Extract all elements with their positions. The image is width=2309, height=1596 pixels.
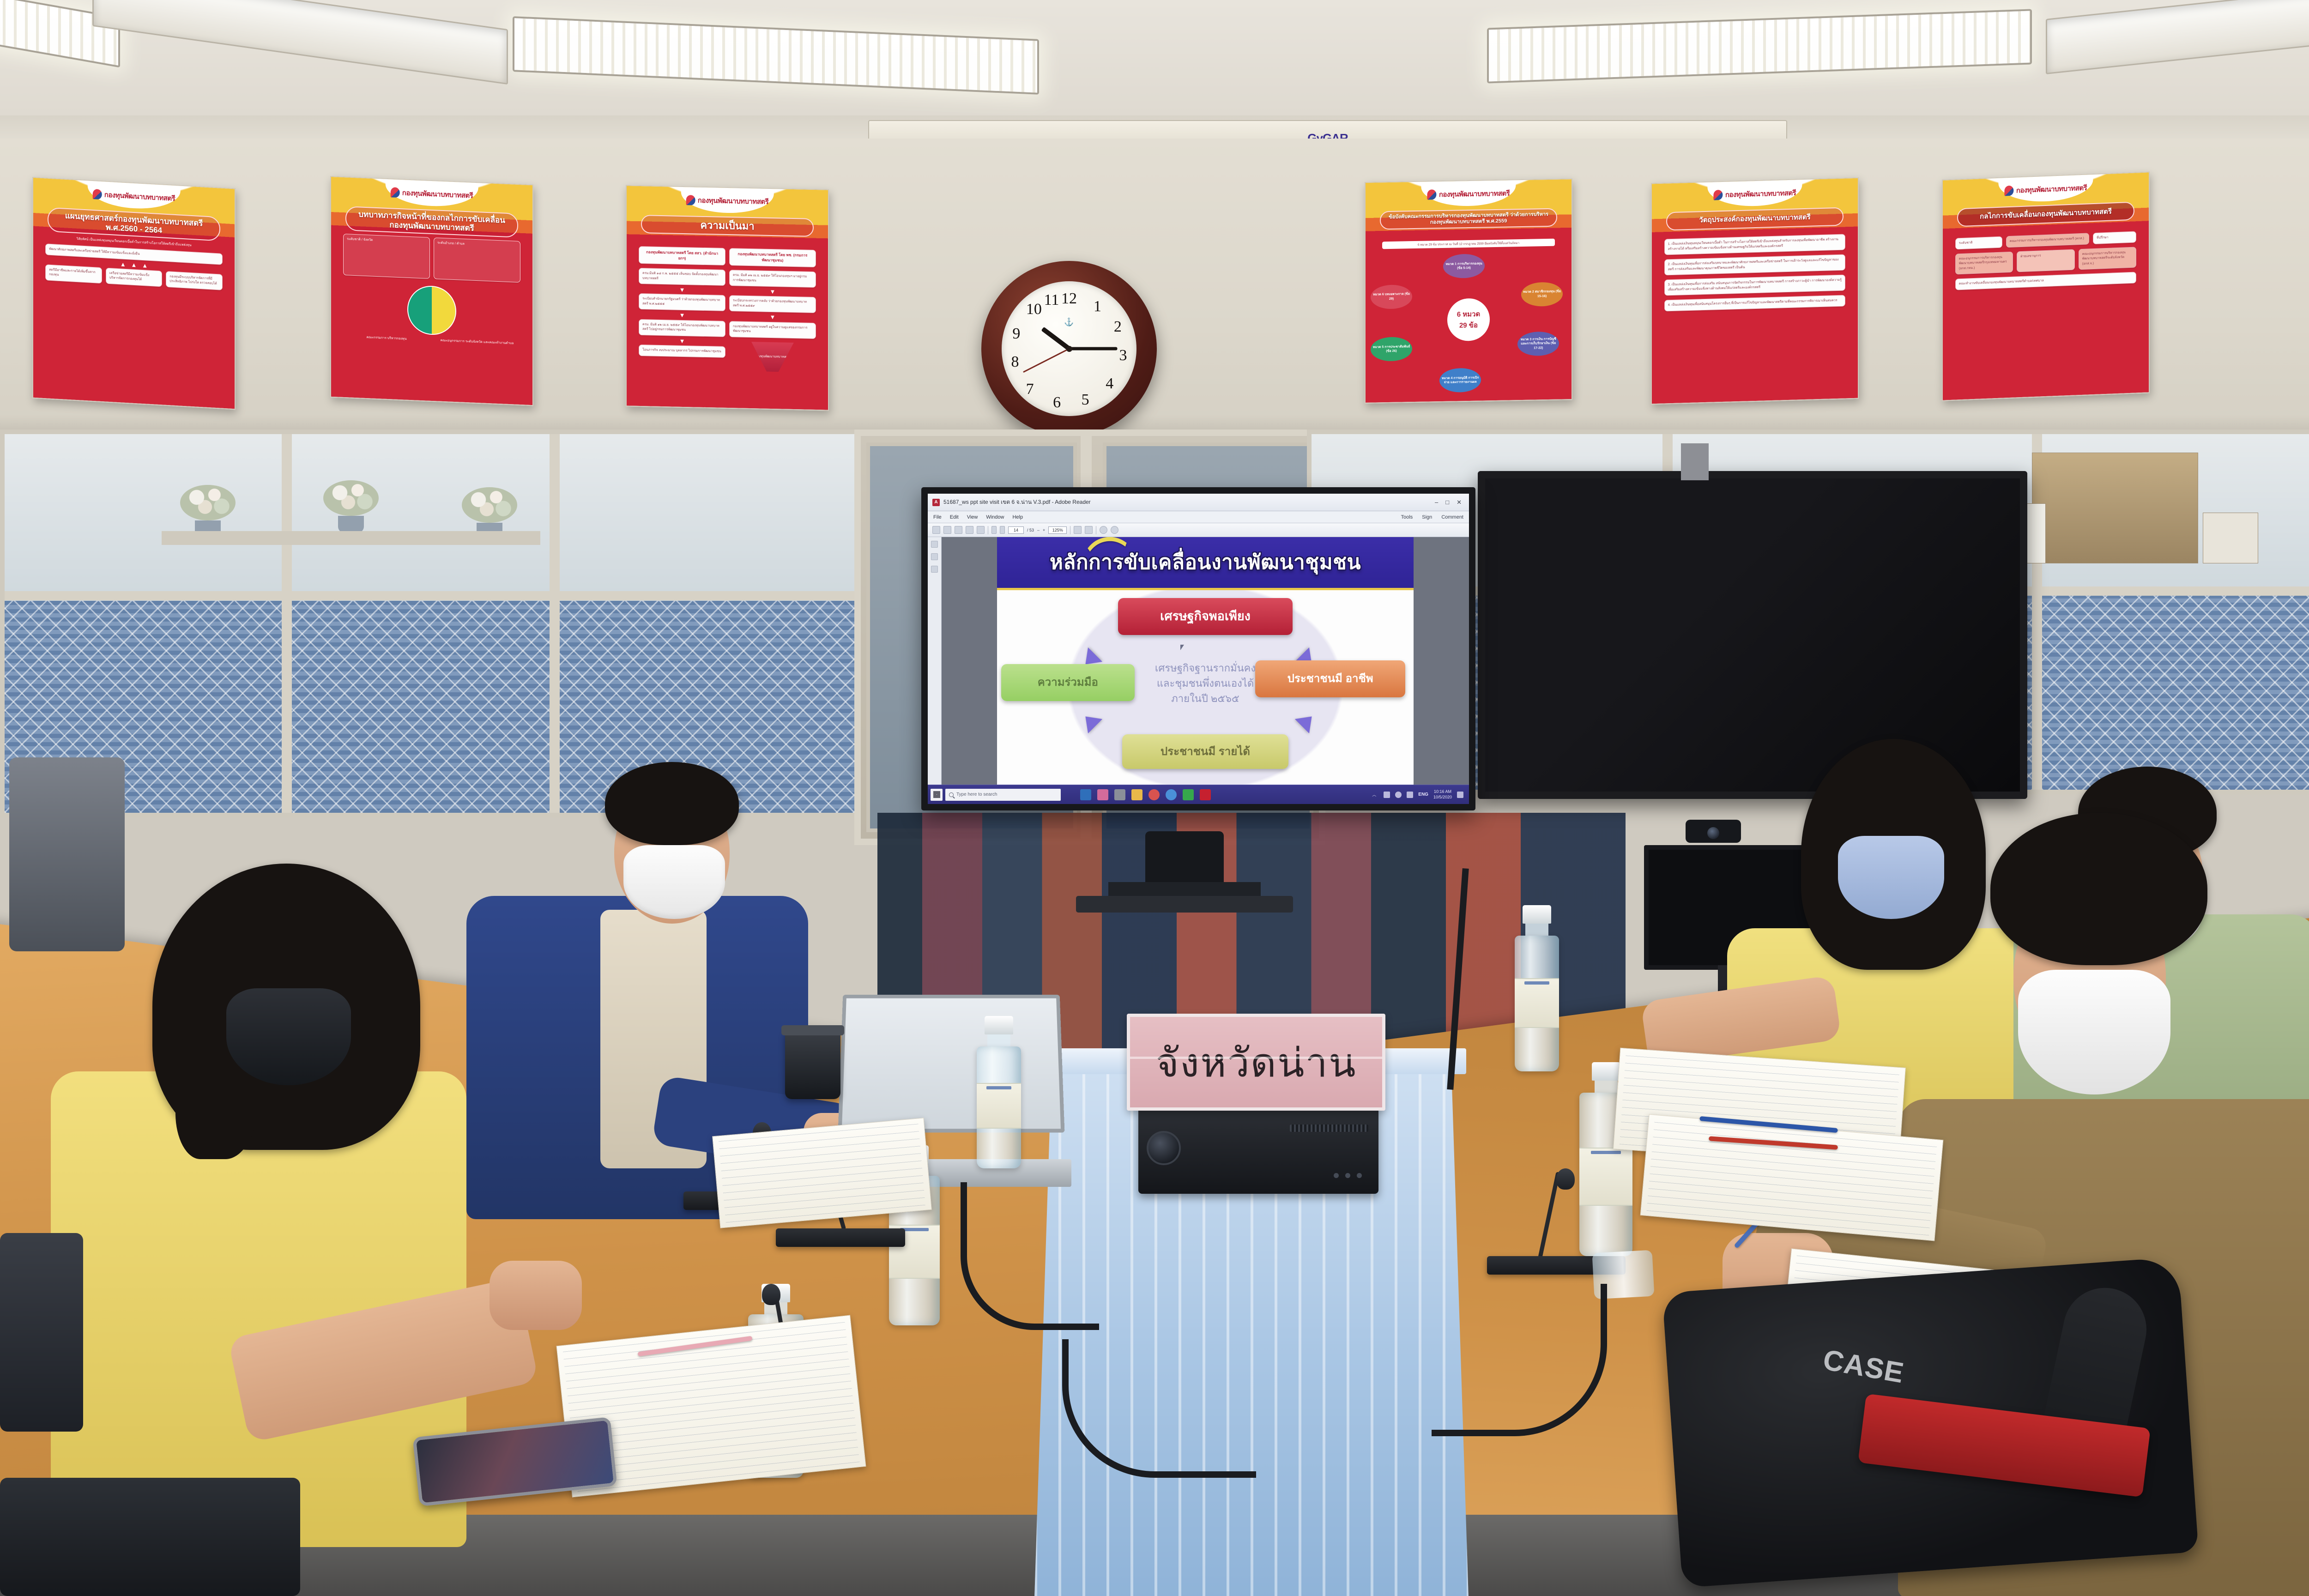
poster-box: ครม. มีมติ ๑๒ เม.ย. ๒๕๕๙ ให้โอนกองทุนพัฒ… [639, 319, 725, 337]
pdf-toolbar: 14 / 53 – + 125% [928, 523, 1469, 537]
office-chair [0, 1478, 300, 1596]
category-node: หมวด 3 การเงิน การบัญชี และการเก็บรักษาเ… [1517, 332, 1559, 357]
show-hidden-icons-button[interactable]: ︿ [1372, 792, 1378, 798]
mechanism-node: คณะอนุกรรมการบริหารกองทุนพัฒนาบทบาทสตรีร… [2079, 247, 2137, 270]
search-icon [949, 792, 954, 797]
windows-taskbar: Type here to search ︿ E [928, 785, 1469, 804]
arrow-down-icon: ▼ [639, 338, 725, 345]
clock-numeral: 2 [1114, 318, 1122, 336]
poster-logo-label: กองทุนพัฒนาบทบาทสตรี [1439, 187, 1510, 200]
poster-logo-label: กองทุนพัฒนาบทบาทสตรี [402, 187, 473, 201]
storage-box [2203, 513, 2258, 563]
page-thumbnails-icon[interactable] [931, 541, 938, 548]
menu-edit[interactable]: Edit [950, 514, 959, 520]
fund-logo-icon [686, 195, 695, 205]
page-total-label: / 53 [1027, 528, 1034, 532]
projector-lens-icon [1147, 1131, 1181, 1165]
center-line-2: และชุมชนพึ่งตนเองได้ [1130, 676, 1281, 691]
category-node: หมวด 2 สมาชิกกองทุน (ข้อ 15-16) [1521, 282, 1563, 307]
flower-vase [180, 485, 236, 536]
poster-pie-chart [407, 285, 456, 336]
storage-box [2032, 453, 2198, 563]
volume-icon[interactable] [1407, 792, 1413, 798]
arrow-down-icon: ▼ [639, 287, 725, 293]
category-node: หมวด 4 การอนุมัติ การเบิกจ่าย และการรายง… [1439, 368, 1481, 393]
clock-time: 10:16 AM [1433, 789, 1452, 794]
clock-numeral: 7 [1026, 381, 1034, 398]
menu-comment[interactable]: Comment [1441, 514, 1463, 520]
category-node: หมวด 1 การบริหารกองทุน (ข้อ 5-14) [1443, 254, 1485, 279]
center-line-1: เศรษฐกิจฐานรากมั่นคง [1130, 660, 1281, 676]
pdf-page[interactable]: ⌒ หลักการขับเคลื่อนงานพัฒนาชุมชน เศรษฐกิ… [997, 537, 1414, 785]
poster-box: กองทุนพัฒนาบทบาทสตรี อยู่ในความดูแลของกร… [729, 321, 816, 339]
clock-numeral: 4 [1106, 375, 1113, 393]
table-projector [1138, 1106, 1378, 1194]
fund-logo-icon [1427, 189, 1437, 199]
fund-logo-icon [93, 189, 102, 199]
pie-slice-label: คณะอนุกรรมการ ระดับจังหวัด และคณะทำงานตำ… [434, 338, 520, 346]
onedrive-icon[interactable] [1395, 792, 1402, 798]
flower-vase [462, 487, 517, 538]
poster-column-head: กองทุนพัฒนาบทบาทสตรี โดย พช. (กรมการพัฒน… [729, 248, 816, 267]
cable [961, 1182, 1099, 1330]
clock-numeral: 3 [1119, 347, 1127, 364]
close-button[interactable]: ✕ [1457, 499, 1462, 506]
slide-title-band: ⌒ หลักการขับเคลื่อนงานพัฒนาชุมชน [997, 537, 1414, 590]
paper-document [712, 1118, 932, 1228]
bookmarks-icon[interactable] [931, 553, 938, 560]
menu-view[interactable]: View [967, 514, 978, 520]
tumbler-cup [785, 1030, 840, 1099]
wall-clock: ⚓ 12 1 2 3 4 5 6 7 8 9 10 11 [981, 261, 1157, 436]
clock-date: 10/5/2020 [1433, 795, 1452, 800]
clock-numeral: 6 [1053, 394, 1061, 411]
poster-box: ระเบียบสำนักนายกรัฐมนตรี ว่าด้วยกองทุนพั… [639, 293, 725, 311]
language-indicator[interactable]: ENG [1418, 792, 1428, 797]
water-bottle [1515, 905, 1559, 1071]
menu-file[interactable]: File [933, 514, 942, 520]
poster-box: โอนภารกิจ งบประมาณ บุคลากร ไปกรมการพัฒนา… [639, 345, 725, 357]
poster-box: ระเบียบกระทรวงการคลัง ว่าด้วยกองทุนพัฒนา… [729, 295, 816, 313]
poster-logo-label: กองทุนพัฒนาบทบาทสตรี [1725, 187, 1796, 200]
clock-second-hand [1023, 348, 1070, 373]
poster-legend-left: ระดับชาติ / จังหวัด [343, 234, 430, 279]
adobe-reader-icon: A [932, 499, 940, 506]
speaker-box [1145, 831, 1224, 887]
chrome-icon[interactable] [1166, 789, 1177, 800]
clock-minute-hand [1069, 347, 1117, 351]
hand [490, 1261, 582, 1330]
pie-slice-label: คณะกรรมการ บริหารกองทุน [343, 334, 430, 343]
face-mask [226, 988, 351, 1085]
face-mask [623, 845, 725, 919]
flower-vase [323, 480, 379, 531]
poster-box: เครือข่ายสตรีมีความเข้มแข็ง บริหารจัดการ… [106, 267, 163, 287]
menu-tools[interactable]: Tools [1401, 514, 1413, 520]
arrow-down-icon: ▼ [729, 314, 816, 320]
projector-indicator-lights [1334, 1173, 1362, 1178]
av-shelf [1076, 896, 1293, 913]
clock-face: ⚓ 12 1 2 3 4 5 6 7 8 9 10 11 [1002, 281, 1137, 417]
pdf-menu-bar: File Edit View Window Help Tools Sign Co… [928, 511, 1469, 523]
cycle-arrow-icon [1295, 709, 1319, 733]
network-icon[interactable] [1384, 792, 1390, 798]
nameplate-text: จังหวัดน่าน [1155, 1031, 1356, 1094]
zoom-level-select[interactable]: 125% [1048, 526, 1067, 534]
store-icon[interactable] [1080, 789, 1091, 800]
poster-objectives: กองทุนพัฒนาบทบาทสตรี วัตถุประสงค์กองทุนพ… [1651, 177, 1859, 405]
category-node: หมวด 5 การประชาสัมพันธ์ (ข้อ 26) [1371, 337, 1412, 362]
fit-page-icon[interactable] [1074, 526, 1082, 534]
explorer-icon[interactable] [1131, 789, 1142, 800]
windows-desktop: A 51687_ws ppt site visit เขต 6 จ.น่าน V… [928, 494, 1469, 804]
poster-logo-label: กองทุนพัฒนาบทบาทสตรี [698, 195, 768, 207]
mechanism-node: ระดับชาติ [1955, 236, 2002, 249]
slide-diagram: เศรษฐกิจพอเพียง ประชาชนมี อาชีพ ประชาชนม… [997, 590, 1414, 785]
menu-window[interactable]: Window [986, 514, 1004, 520]
poster-column-head: กองทุนพัฒนาบทบาทสตรี โดย สสว. (สำนักนายก… [639, 246, 725, 266]
rotate-icon[interactable] [1085, 526, 1093, 534]
fund-logo-icon [391, 187, 400, 198]
hair [605, 762, 739, 845]
clock-numeral: 11 [1044, 291, 1059, 309]
browser-icon[interactable] [1148, 789, 1160, 800]
clock-numeral: 8 [1011, 353, 1019, 371]
next-page-icon[interactable] [1000, 526, 1005, 534]
minimize-button[interactable]: – [1435, 499, 1438, 506]
clock-hour-hand [1041, 327, 1070, 351]
poster-box: ครม.มีมติ ๑๘ ก.พ. ๒๕๕๕ เห็นชอบ จัดตั้งกอ… [639, 268, 725, 286]
previous-page-icon[interactable] [991, 526, 997, 534]
decorative-swash-icon: ⌒ [1085, 537, 1132, 585]
fund-logo-icon [2005, 186, 2014, 196]
save-icon[interactable] [943, 526, 951, 534]
slide-node-top: เศรษฐกิจพอเพียง [1118, 598, 1293, 635]
line-icon[interactable] [1183, 789, 1194, 800]
office-chair [9, 757, 125, 951]
open-file-icon[interactable] [932, 526, 940, 534]
search-placeholder: Type here to search [956, 792, 997, 797]
clock-center-pin [1066, 346, 1072, 352]
poster-mechanism: กองทุนพัฒนาบทบาทสตรี กลไกการขับเคลื่อนกอ… [1942, 171, 2150, 401]
mechanism-node: ที่ปรึกษา [2093, 231, 2136, 244]
security-icon[interactable] [1114, 789, 1125, 800]
hub-line-1: 6 หมวด [1457, 308, 1480, 320]
slide-node-bottom: ประชาชนมี รายได้ [1122, 734, 1289, 769]
windows-start-button[interactable] [931, 789, 943, 801]
clock-brand-icon: ⚓ [1064, 318, 1074, 327]
office-chair [0, 1233, 83, 1432]
poster-logo-label: กองทุนพัฒนาบทบาทสตรี [2016, 182, 2087, 196]
arrow-down-icon: ▼ [729, 289, 816, 295]
mouse-cursor-icon [1180, 645, 1186, 650]
poster-box: สตรีมีอาชีพและรายได้เพิ่มขึ้นจากกองทุน [45, 264, 102, 284]
clock-numeral: 1 [1094, 298, 1101, 315]
page-number-input[interactable]: 14 [1008, 526, 1024, 534]
email-icon[interactable] [955, 526, 962, 534]
slide: ⌒ หลักการขับเคลื่อนงานพัฒนาชุมชน เศรษฐกิ… [997, 537, 1414, 785]
print-icon[interactable] [966, 526, 973, 534]
pdf-window-title: 51687_ws ppt site visit เขต 6 จ.น่าน V.3… [943, 498, 1091, 507]
clock-numeral: 12 [1061, 290, 1077, 308]
mechanism-node: ฝ่ายเลขานุการ [2017, 249, 2075, 272]
poster-box: กองทุนมีระบบบริหารจัดการที่มีประสิทธิภาพ… [166, 271, 223, 290]
poster-strategy: กองทุนพัฒนาบทบาทสตรี แผนยุทธศาสตร์กองทุน… [32, 177, 236, 410]
slide-node-left: ความร่วมมือ [1001, 664, 1135, 701]
tv-mount [1681, 443, 1709, 480]
hub-line-2: 29 ข้อ [1459, 320, 1478, 331]
slide-center-text: เศรษฐกิจฐานรากมั่นคง และชุมชนพึ่งตนเองได… [1130, 660, 1281, 706]
pdf-side-rail [928, 537, 942, 785]
mechanism-node: คณะอนุกรรมการบริหารกองทุนพัฒนาบทบาทสตรีก… [1955, 251, 2013, 274]
objective-item: 3. เป็นแหล่งเงินทุนเพื่อการส่งเสริม สนับ… [1664, 275, 1846, 296]
objective-item: 2. เป็นแหล่งเงินทุนเพื่อการส่งเสริมบทบาท… [1664, 254, 1846, 276]
taskbar-search-box[interactable]: Type here to search [945, 789, 1061, 801]
pdf-title-bar: A 51687_ws ppt site visit เขต 6 จ.น่าน V… [928, 494, 1469, 511]
backpack-brand-label: CASE [1820, 1343, 1906, 1390]
action-center-icon[interactable] [1457, 792, 1463, 798]
poster-hub: 6 หมวด 29 ข้อ [1447, 298, 1490, 341]
poster-logo-label: กองทุนพัฒนาบทบาทสตรี [104, 189, 175, 204]
poster-legend-right: ระดับอำเภอ / ตำบล [434, 237, 520, 283]
menu-sign[interactable]: Sign [1422, 514, 1432, 520]
highlight-icon[interactable] [1111, 526, 1118, 534]
hair [1990, 813, 2207, 965]
meeting-room-photo: GyGAR กองทุนพัฒนาบทบาทสตรี แผนยุทธศาสตร์… [0, 0, 2309, 1596]
category-node: หมวด 6 บทเฉพาะกาล (ข้อ 29) [1371, 284, 1412, 309]
projector-vent [1290, 1124, 1368, 1132]
poster-6categories: กองทุนพัฒนาบทบาทสตรี ข้อบังคับคณะกรรมการ… [1365, 178, 1572, 404]
presentation-monitor: A 51687_ws ppt site visit เขต 6 จ.น่าน V… [921, 487, 1475, 810]
arrow-down-icon: ▼ [639, 312, 725, 319]
maximize-button[interactable]: □ [1445, 499, 1449, 506]
poster-roles: กองทุนพัฒนาบทบาทสตรี บทบาทภารกิจหน้าที่ข… [330, 176, 533, 406]
fund-logo-icon [1714, 190, 1723, 200]
center-line-3: ภายในปี ๒๕๖๕ [1130, 691, 1281, 706]
zoom-in-button[interactable]: + [1043, 528, 1045, 532]
face-mask [2018, 970, 2170, 1094]
poster-box: ครม. มีมติ ๑๒ เม.ย. ๒๕๕๙ ให้โอนกองทุนฯ ม… [729, 270, 816, 288]
menu-help[interactable]: Help [1012, 514, 1023, 520]
photos-icon[interactable] [1097, 789, 1108, 800]
attachments-icon[interactable] [931, 566, 938, 573]
clock-numeral: 9 [1012, 325, 1020, 343]
cycle-arrow-icon [1078, 709, 1102, 733]
objective-item: 4. เป็นแหล่งเงินทุนเพื่อสนับสนุนโครงการอ… [1664, 295, 1846, 311]
clock-numeral: 10 [1026, 301, 1042, 318]
comment-icon[interactable] [1100, 526, 1107, 534]
poster-funnel: กองทุนพัฒนาบทบาทสตรี [751, 342, 794, 372]
poster-background: กองทุนพัฒนาบทบาทสตรี ความเป็นมา กองทุนพั… [626, 185, 829, 411]
acrobat-icon[interactable] [1200, 789, 1211, 800]
taskbar-clock[interactable]: 10:16 AM 10/5/2020 [1433, 789, 1452, 800]
page-view-icon[interactable] [977, 526, 985, 534]
water-bottle [977, 1016, 1021, 1168]
poster-title: ข้อบังคับคณะกรรมการบริหารกองทุนพัฒนาบทบา… [1380, 208, 1557, 230]
clock-numeral: 5 [1082, 391, 1089, 409]
zoom-out-button[interactable]: – [1037, 528, 1040, 532]
poster-title: ความเป็นมา [641, 215, 814, 237]
province-nameplate: จังหวัดน่าน [1127, 1014, 1385, 1111]
pdf-document-area: ⌒ หลักการขับเคลื่อนงานพัฒนาชุมชน เศรษฐกิ… [928, 537, 1469, 785]
